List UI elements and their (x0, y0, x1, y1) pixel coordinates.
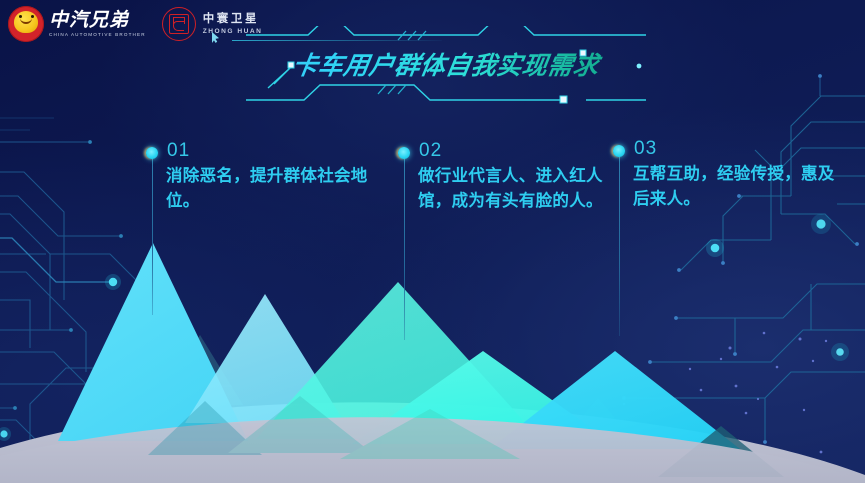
logo-china-automotive-brother[interactable]: 中汽兄弟 CHINA AUTOMOTIVE BROTHER (8, 6, 146, 42)
callout-number: 02 (419, 140, 442, 162)
callout-stem-line (404, 155, 405, 340)
slide-canvas: 中汽兄弟 CHINA AUTOMOTIVE BROTHER 中寰卫星 ZHONG… (0, 0, 865, 483)
timeline-node-icon (146, 147, 158, 159)
logo-secondary-name-cn: 中寰卫星 (203, 13, 263, 26)
page-title: 卡车用户群体自我实现需求 (246, 26, 646, 110)
logo-primary-name-cn: 中汽兄弟 (49, 11, 146, 31)
callout-number: 03 (634, 138, 657, 160)
red-seal-stamp-icon (162, 7, 196, 41)
callout-number: 01 (167, 140, 190, 162)
header-divider (232, 40, 442, 41)
callout-text: 做行业代言人、进入红人馆，成为有头有脸的人。 (418, 164, 608, 214)
logo-secondary-name-en: ZHONG HUAN (203, 28, 263, 35)
page-title-text: 卡车用户群体自我实现需求 (243, 46, 649, 82)
smiling-bee-mascot-icon (8, 6, 44, 42)
logo-primary-name-en: CHINA AUTOMOTIVE BROTHER (49, 32, 146, 37)
timeline-node-icon (398, 147, 410, 159)
callout-stem-line (152, 155, 153, 315)
mascot-eyes-icon (19, 15, 34, 19)
mountain-range-illustration-icon (0, 223, 865, 483)
callout-text: 消除恶名，提升群体社会地位。 (166, 164, 371, 214)
branding-logos: 中汽兄弟 CHINA AUTOMOTIVE BROTHER 中寰卫星 ZHONG… (8, 6, 262, 42)
seal-glyph-icon (169, 14, 189, 34)
callout-stem-line (619, 153, 620, 336)
timeline-node-icon (613, 145, 625, 157)
callout-text: 互帮互助，经验传授，惠及后来人。 (633, 162, 848, 212)
